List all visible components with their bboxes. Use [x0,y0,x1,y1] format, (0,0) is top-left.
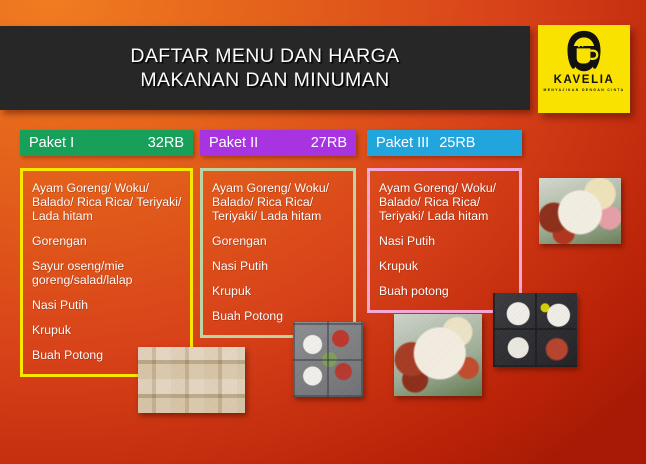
title-line-1: DAFTAR MENU DAN HARGA [130,45,399,68]
package-items-2: Ayam Goreng/ Woku/ Balado/ Rica Rica/ Te… [200,168,356,338]
package-name-3: Paket III [376,135,429,151]
rice-plate-closeup-photo [539,178,621,244]
title-line-2: MAKANAN DAN MINUMAN [140,69,389,92]
package-price-3: 25RB [439,135,475,151]
menu-item: Sayur oseng/mie goreng/salad/lalap [32,259,182,287]
header-bar: DAFTAR MENU DAN HARGA MAKANAN DAN MINUMA… [0,26,530,110]
package-items-3: Ayam Goreng/ Woku/ Balado/ Rica Rica/ Te… [367,168,522,313]
package-items-1: Ayam Goreng/ Woku/ Balado/ Rica Rica/ Te… [20,168,193,377]
page-title: DAFTAR MENU DAN HARGA MAKANAN DAN MINUMA… [0,26,530,110]
menu-item: Nasi Putih [32,298,182,312]
package-header-3: Paket III 25RB [367,130,522,156]
menu-item: Buah Potong [212,309,345,323]
photo-content [539,178,621,244]
menu-item: Ayam Goreng/ Woku/ Balado/ Rica Rica/ Te… [32,181,182,223]
menu-item: Gorengan [32,234,182,248]
package-price-2: 27RB [311,135,347,151]
logo-wordmark: KAVELIA [554,75,615,87]
lunchbox-rice-meals-photo [293,322,363,397]
photo-content [493,293,577,367]
package-header-2: Paket II 27RB [200,130,356,156]
photo-content [394,314,482,396]
package-price-1: 32RB [148,135,184,151]
brand-logo: KAVELIA MENYAJIKAN DENGAN CINTA [538,25,630,113]
package-card-2: Paket II 27RB Ayam Goreng/ Woku/ Balado/… [200,130,356,338]
package-name-2: Paket II [209,135,258,151]
menu-item: Gorengan [212,234,345,248]
rice-plate-with-side-dishes-photo [394,314,482,396]
photo-content [138,347,245,413]
menu-item: Krupuk [212,284,345,298]
package-header-1: Paket I 32RB [20,130,193,156]
menu-item: Ayam Goreng/ Woku/ Balado/ Rica Rica/ Te… [212,181,345,223]
package-card-3: Paket III 25RB Ayam Goreng/ Woku/ Balado… [367,130,522,313]
black-tray-meal-boxes-photo [493,293,577,367]
menu-item: Krupuk [379,259,511,273]
package-name-1: Paket I [29,135,74,151]
menu-item: Buah potong [379,284,511,298]
menu-item: Nasi Putih [212,259,345,273]
menu-item: Krupuk [32,323,182,337]
menu-item: Ayam Goreng/ Woku/ Balado/ Rica Rica/ Te… [379,181,511,223]
menu-item: Nasi Putih [379,234,511,248]
stacked-paper-food-boxes-photo [138,347,245,413]
package-card-1: Paket I 32RB Ayam Goreng/ Woku/ Balado/ … [20,130,193,377]
photo-content [293,322,363,397]
woman-with-coffee-cup-icon [561,30,607,74]
logo-tagline: MENYAJIKAN DENGAN CINTA [544,88,625,92]
